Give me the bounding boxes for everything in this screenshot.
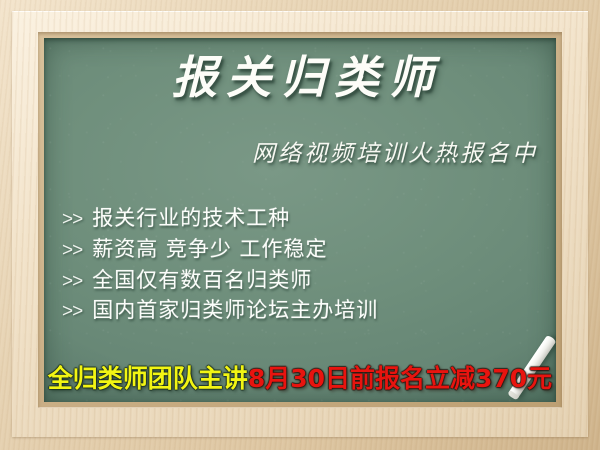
poster-subtitle: 网络视频培训火热报名中 (252, 134, 538, 168)
double-chevron-icon: >> (62, 210, 82, 229)
promo-banner: 全归类师团队主讲8月30日前报名立减370元 (44, 365, 556, 393)
list-item: >> 报关行业的技术工种 (62, 206, 544, 231)
list-item-label: 报关行业的技术工种 (92, 206, 290, 231)
list-item-label: 国内首家归类师论坛主办培训 (92, 298, 378, 323)
double-chevron-icon: >> (62, 241, 82, 260)
promo-offer-text: 8月30日前报名立减370元 (248, 364, 552, 393)
poster-title: 报关归类师 (44, 54, 556, 101)
list-item: >> 全国仅有数百名归类师 (62, 268, 544, 293)
chalkboard-content: 报关归类师 网络视频培训火热报名中 >> 报关行业的技术工种 >> 薪资高 竞争… (44, 38, 556, 402)
list-item: >> 国内首家归类师论坛主办培训 (62, 298, 544, 323)
double-chevron-icon: >> (62, 272, 82, 291)
list-item: >> 薪资高 竞争少 工作稳定 (62, 237, 544, 262)
promo-highlight-text: 全归类师团队主讲 (48, 364, 248, 393)
chalkboard-surface: 报关归类师 网络视频培训火热报名中 >> 报关行业的技术工种 >> 薪资高 竞争… (44, 38, 556, 402)
feature-bullet-list: >> 报关行业的技术工种 >> 薪资高 竞争少 工作稳定 >> 全国仅有数百名归… (62, 206, 544, 329)
chalkboard-poster: 报关归类师 网络视频培训火热报名中 >> 报关行业的技术工种 >> 薪资高 竞争… (0, 0, 600, 450)
double-chevron-icon: >> (62, 302, 82, 321)
list-item-label: 全国仅有数百名归类师 (92, 268, 312, 293)
list-item-label: 薪资高 竞争少 工作稳定 (92, 237, 327, 262)
